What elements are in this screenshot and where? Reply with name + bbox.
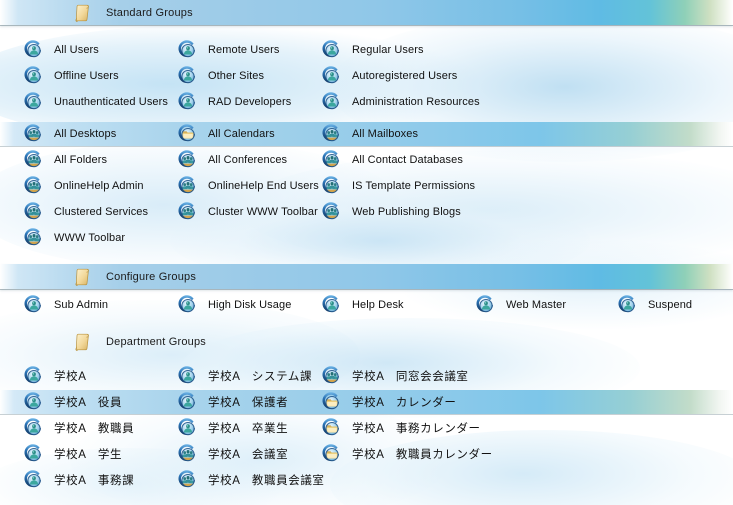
group-item[interactable]: 学校A 教職員会議室	[178, 468, 325, 492]
group-icon	[322, 124, 342, 144]
group-item[interactable]: Web Publishing Blogs	[322, 200, 461, 224]
group-item[interactable]: 学校A 卒業生	[178, 416, 288, 440]
group-item[interactable]: Offline Users	[24, 64, 119, 88]
section-header-label: Department Groups	[106, 336, 206, 348]
group-item[interactable]: Cluster WWW Toolbar	[178, 200, 318, 224]
user-icon	[322, 92, 342, 112]
group-item-label: Cluster WWW Toolbar	[208, 206, 318, 218]
group-icon	[24, 202, 44, 222]
user-icon	[24, 295, 44, 315]
user-icon	[24, 40, 44, 60]
folder-icon	[322, 444, 342, 464]
group-item[interactable]: 学校A 教職員カレンダー	[322, 442, 493, 466]
group-icon	[24, 176, 44, 196]
group-item[interactable]: 学校A 同窓会会議室	[322, 364, 469, 388]
groups-page: Standard GroupsAll UsersRemote UsersRegu…	[0, 0, 733, 505]
user-icon	[178, 40, 198, 60]
user-icon	[24, 392, 44, 412]
user-icon	[476, 295, 496, 315]
group-icon	[178, 176, 198, 196]
group-item[interactable]: 学校A 学生	[24, 442, 122, 466]
group-item[interactable]: WWW Toolbar	[24, 226, 125, 250]
group-item-label: All Users	[54, 44, 99, 56]
user-icon	[322, 66, 342, 86]
group-item-label: 学校A 教職員	[54, 420, 134, 436]
group-item-label: All Calendars	[208, 128, 275, 140]
document-scroll-icon	[74, 3, 92, 23]
group-item-label: 学校A 保護者	[208, 394, 288, 410]
group-item-label: 学校A 会議室	[208, 446, 288, 462]
group-item[interactable]: All Calendars	[178, 122, 275, 146]
user-icon	[178, 366, 198, 386]
group-item-label: OnlineHelp End Users	[208, 180, 319, 192]
group-item-label: RAD Developers	[208, 96, 291, 108]
group-icon	[322, 150, 342, 170]
group-item-label: 学校A 役員	[54, 394, 122, 410]
group-item-label: 学校A 事務課	[54, 472, 134, 488]
group-item[interactable]: Autoregistered Users	[322, 64, 457, 88]
user-icon	[24, 470, 44, 490]
group-item-label: Other Sites	[208, 70, 264, 82]
group-icon	[24, 124, 44, 144]
folder-icon	[178, 124, 198, 144]
group-item[interactable]: High Disk Usage	[178, 293, 291, 317]
section-header-department-groups: Department Groups	[0, 329, 733, 354]
group-item[interactable]: 学校A 教職員	[24, 416, 134, 440]
document-scroll-icon	[74, 332, 92, 352]
user-icon	[24, 66, 44, 86]
group-item[interactable]: All Mailboxes	[322, 122, 418, 146]
group-icon	[24, 150, 44, 170]
group-item-label: WWW Toolbar	[54, 232, 125, 244]
group-item[interactable]: 学校A カレンダー	[322, 390, 456, 414]
group-item[interactable]: OnlineHelp End Users	[178, 174, 319, 198]
user-icon	[178, 418, 198, 438]
group-item-label: High Disk Usage	[208, 299, 291, 311]
group-item[interactable]: All Desktops	[24, 122, 116, 146]
group-item-label: Sub Admin	[54, 299, 108, 311]
user-icon	[178, 392, 198, 412]
group-item[interactable]: RAD Developers	[178, 90, 291, 114]
group-item-label: Unauthenticated Users	[54, 96, 168, 108]
group-item-label: 学校A カレンダー	[352, 394, 456, 410]
group-item-label: All Folders	[54, 154, 107, 166]
section-header-label: Configure Groups	[106, 271, 196, 283]
group-item[interactable]: 学校A システム課	[178, 364, 312, 388]
section-header-standard-groups: Standard Groups	[0, 0, 733, 25]
group-item[interactable]: Administration Resources	[322, 90, 480, 114]
user-icon	[322, 40, 342, 60]
group-item[interactable]: Remote Users	[178, 38, 280, 62]
section-header-configure-groups: Configure Groups	[0, 264, 733, 289]
group-item[interactable]: 学校A	[24, 364, 86, 388]
group-item-label: Web Master	[506, 299, 566, 311]
user-icon	[24, 366, 44, 386]
group-item-label: Administration Resources	[352, 96, 480, 108]
group-item[interactable]: All Users	[24, 38, 99, 62]
group-icon	[178, 444, 198, 464]
group-item[interactable]: Sub Admin	[24, 293, 108, 317]
user-icon	[24, 444, 44, 464]
group-item-label: Web Publishing Blogs	[352, 206, 461, 218]
group-item-label: Suspend	[648, 299, 692, 311]
group-item[interactable]: OnlineHelp Admin	[24, 174, 144, 198]
group-item-label: OnlineHelp Admin	[54, 180, 144, 192]
group-item[interactable]: All Contact Databases	[322, 148, 463, 172]
group-item-label: 学校A 教職員会議室	[208, 472, 325, 488]
group-item-label: Clustered Services	[54, 206, 148, 218]
user-icon	[178, 295, 198, 315]
group-item-label: Regular Users	[352, 44, 424, 56]
group-item-label: Remote Users	[208, 44, 280, 56]
group-item-label: All Conferences	[208, 154, 287, 166]
group-item-label: Help Desk	[352, 299, 404, 311]
group-icon	[178, 150, 198, 170]
group-icon	[322, 176, 342, 196]
group-item-label: 学校A 教職員カレンダー	[352, 446, 493, 462]
group-item-label: Offline Users	[54, 70, 119, 82]
folder-icon	[322, 418, 342, 438]
group-item-label: 学校A 事務カレンダー	[352, 420, 481, 436]
user-icon	[322, 295, 342, 315]
group-item[interactable]: All Folders	[24, 148, 107, 172]
section-header-label: Standard Groups	[106, 7, 193, 19]
group-item[interactable]: 学校A 事務カレンダー	[322, 416, 481, 440]
group-item[interactable]: All Conferences	[178, 148, 287, 172]
folder-icon	[322, 392, 342, 412]
group-item-label: 学校A 学生	[54, 446, 122, 462]
group-item-label: IS Template Permissions	[352, 180, 475, 192]
group-item-label: 学校A 卒業生	[208, 420, 288, 436]
group-item[interactable]: Clustered Services	[24, 200, 148, 224]
group-item[interactable]: Help Desk	[322, 293, 404, 317]
group-icon	[322, 202, 342, 222]
group-item[interactable]: IS Template Permissions	[322, 174, 475, 198]
document-scroll-icon	[74, 267, 92, 287]
group-item-label: 学校A	[54, 368, 86, 384]
group-icon	[178, 202, 198, 222]
group-icon	[322, 366, 342, 386]
group-item[interactable]: Unauthenticated Users	[24, 90, 168, 114]
user-icon	[24, 92, 44, 112]
group-item-label: 学校A 同窓会会議室	[352, 368, 469, 384]
group-item[interactable]: 学校A 会議室	[178, 442, 288, 466]
group-item-label: All Desktops	[54, 128, 116, 140]
group-item[interactable]: 学校A 事務課	[24, 468, 134, 492]
group-item[interactable]: 学校A 保護者	[178, 390, 288, 414]
group-item[interactable]: 学校A 役員	[24, 390, 122, 414]
user-icon	[178, 92, 198, 112]
group-item[interactable]: Web Master	[476, 293, 566, 317]
group-item-label: Autoregistered Users	[352, 70, 457, 82]
user-icon	[24, 418, 44, 438]
group-icon	[178, 470, 198, 490]
group-item[interactable]: Regular Users	[322, 38, 424, 62]
user-icon	[178, 66, 198, 86]
group-item-label: All Mailboxes	[352, 128, 418, 140]
user-icon	[618, 295, 638, 315]
group-item-label: 学校A システム課	[208, 368, 312, 384]
group-item-label: All Contact Databases	[352, 154, 463, 166]
group-item[interactable]: Suspend	[618, 293, 692, 317]
group-icon	[24, 228, 44, 248]
group-item[interactable]: Other Sites	[178, 64, 264, 88]
